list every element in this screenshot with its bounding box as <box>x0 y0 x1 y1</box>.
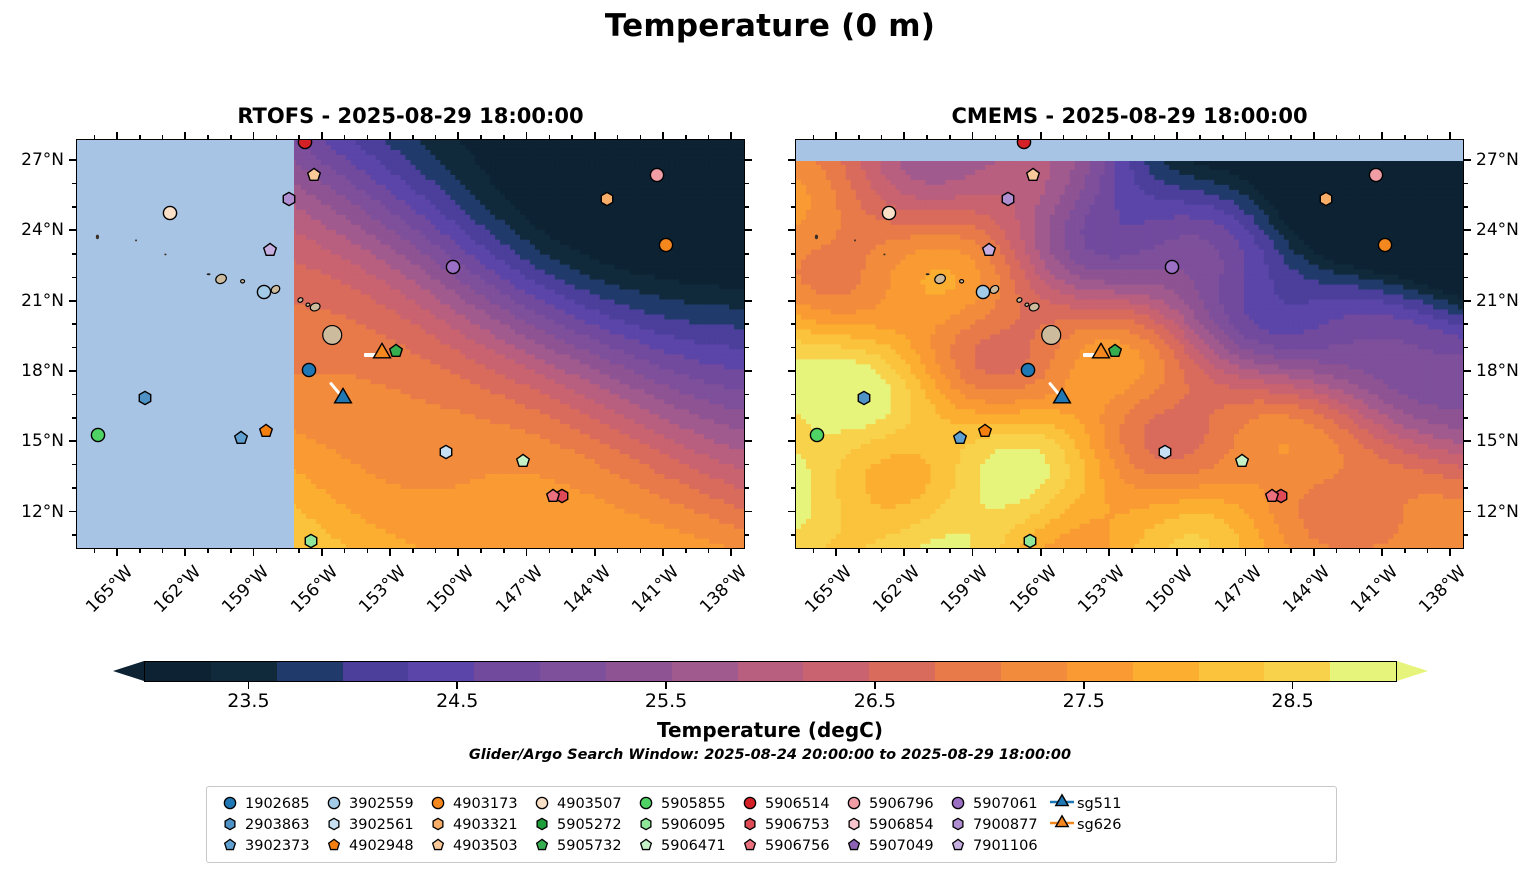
xtick-major <box>457 132 459 139</box>
map-marker-5905855[interactable] <box>809 428 824 443</box>
xtick-label: 141°W <box>618 562 683 627</box>
legend-column-4: 490350759052725905732 <box>529 793 633 856</box>
map-marker-5906095[interactable] <box>304 533 319 548</box>
legend-entry-4902948[interactable]: 4902948 <box>321 835 425 856</box>
xtick-minor <box>549 135 551 139</box>
ytick-major <box>788 511 795 513</box>
ytick-minor <box>72 206 76 208</box>
colorbar-band <box>1264 662 1330 681</box>
xtick-minor <box>412 135 414 139</box>
legend-label: 4902948 <box>347 838 425 854</box>
xtick-minor <box>1268 135 1270 139</box>
ytick-major <box>745 440 752 442</box>
xtick-major <box>253 132 255 139</box>
float-marker-icon <box>217 814 243 835</box>
ytick-label: 21°N <box>6 291 64 311</box>
legend-column-8: 590706179008777901106 <box>945 793 1049 856</box>
xtick-minor <box>1086 549 1088 553</box>
ytick-minor <box>745 417 749 419</box>
legend-entry-5906756[interactable]: 5906756 <box>737 835 841 856</box>
float-marker-icon <box>841 814 867 835</box>
legend-label: 2903863 <box>243 817 321 833</box>
legend-entry-4903503[interactable]: 4903503 <box>425 835 529 856</box>
xtick-minor <box>949 549 951 553</box>
colorbar-band <box>738 662 804 681</box>
ytick-minor <box>1464 206 1468 208</box>
ytick-minor <box>72 417 76 419</box>
map-marker-7900877[interactable] <box>1000 191 1015 206</box>
xtick-major <box>184 132 186 139</box>
map-marker-4903503[interactable] <box>1025 168 1040 183</box>
colorbar-band <box>1199 662 1265 681</box>
xtick-minor <box>298 135 300 139</box>
ytick-minor <box>72 534 76 536</box>
legend-entry-5906471[interactable]: 5906471 <box>633 835 737 856</box>
xtick-major <box>1449 132 1451 139</box>
ytick-major <box>69 370 76 372</box>
xtick-minor <box>571 135 573 139</box>
xtick-major <box>1381 132 1383 139</box>
map-marker-7901106[interactable] <box>982 243 997 258</box>
map-marker-7901106[interactable] <box>263 243 278 258</box>
xtick-minor <box>344 549 346 553</box>
float-marker-icon <box>737 814 763 835</box>
map-marker-4903507[interactable] <box>163 205 178 220</box>
legend-entry-5905855[interactable]: 5905855 <box>633 793 737 814</box>
colorbar-band <box>408 662 474 681</box>
land-overlay-rtofs <box>77 140 744 549</box>
xtick-minor <box>813 549 815 553</box>
legend-entry-5907061[interactable]: 5907061 <box>945 793 1049 814</box>
xtick-minor <box>1199 549 1201 553</box>
xtick-minor <box>1154 135 1156 139</box>
legend[interactable]: 1902685290386339023733902559390256149029… <box>206 786 1337 863</box>
legend-entry-7900877[interactable]: 7900877 <box>945 814 1049 835</box>
ytick-minor <box>791 323 795 325</box>
colorbar-band <box>869 662 935 681</box>
ytick-label: 24°N <box>6 220 64 240</box>
xtick-minor <box>367 549 369 553</box>
land-overlay-cmems <box>796 140 1463 549</box>
ytick-minor <box>791 394 795 396</box>
float-marker-icon <box>945 793 971 814</box>
xtick-minor <box>685 135 687 139</box>
colorbar-tick <box>1083 682 1085 689</box>
xtick-major <box>1040 132 1042 139</box>
map-marker-3902559[interactable] <box>975 285 990 300</box>
xtick-label: 144°W <box>550 562 615 627</box>
xtick-minor <box>276 549 278 553</box>
search-window-caption: Glider/Argo Search Window: 2025-08-24 20… <box>0 747 1540 763</box>
colorbar-band <box>145 662 211 681</box>
xtick-major <box>457 549 459 556</box>
ytick-minor <box>745 394 749 396</box>
map-marker-4903321[interactable] <box>600 191 615 206</box>
xtick-major <box>389 132 391 139</box>
ytick-major <box>1464 511 1471 513</box>
legend-entry-4903507[interactable]: 4903507 <box>529 793 633 814</box>
colorbar: 23.524.525.526.527.528.5 <box>113 661 1428 682</box>
ytick-minor <box>72 183 76 185</box>
xtick-major <box>972 132 974 139</box>
colorbar-tick-label: 24.5 <box>412 690 502 712</box>
xtick-minor <box>503 549 505 553</box>
ytick-major <box>745 370 752 372</box>
glider-marker-sg626[interactable] <box>1090 343 1111 364</box>
xtick-label: 159°W <box>928 562 993 627</box>
ytick-major <box>745 159 752 161</box>
xtick-minor <box>1404 549 1406 553</box>
xtick-label: 162°W <box>140 562 205 627</box>
xtick-minor <box>1427 135 1429 139</box>
legend-entry-5906796[interactable]: 5906796 <box>841 793 945 814</box>
xtick-major <box>321 549 323 556</box>
map-marker-5906471[interactable] <box>1235 454 1250 469</box>
xtick-minor <box>298 549 300 553</box>
xtick-minor <box>230 135 232 139</box>
colorbar-band <box>935 662 1001 681</box>
xtick-major <box>1245 132 1247 139</box>
figure-canvas: Temperature (0 m) RTOFS - 2025-08-29 18:… <box>0 0 1540 889</box>
xtick-minor <box>1086 135 1088 139</box>
xtick-minor <box>1427 549 1429 553</box>
xtick-minor <box>571 549 573 553</box>
legend-label: 5906854 <box>867 817 945 833</box>
float-marker-icon <box>217 793 243 814</box>
legend-label: 1902685 <box>243 796 321 812</box>
map-marker-3902561[interactable] <box>1157 444 1172 459</box>
xtick-label: 165°W <box>791 562 856 627</box>
float-marker-icon <box>737 793 763 814</box>
xtick-minor <box>640 135 642 139</box>
ytick-minor <box>791 534 795 536</box>
xtick-minor <box>94 135 96 139</box>
xtick-major <box>1449 549 1451 556</box>
legend-entry-3902561[interactable]: 3902561 <box>321 814 425 835</box>
map-marker-3902561[interactable] <box>438 444 453 459</box>
xtick-minor <box>1222 135 1224 139</box>
xtick-minor <box>685 549 687 553</box>
xtick-major <box>116 549 118 556</box>
colorbar-band <box>1001 662 1067 681</box>
map-marker-4903503[interactable] <box>306 168 321 183</box>
xtick-major <box>1313 549 1315 556</box>
map-marker-2903863[interactable] <box>857 390 872 405</box>
ytick-minor <box>745 534 749 536</box>
colorbar-tick <box>456 682 458 689</box>
xtick-major <box>1381 549 1383 556</box>
ytick-minor <box>791 183 795 185</box>
ytick-minor <box>1464 277 1468 279</box>
xtick-minor <box>995 135 997 139</box>
map-marker-5907061[interactable] <box>445 259 460 274</box>
legend-entry-5906514[interactable]: 5906514 <box>737 793 841 814</box>
glider-marker-sg511[interactable] <box>1052 387 1073 408</box>
legend-label: 7900877 <box>971 817 1049 833</box>
ytick-minor <box>1464 394 1468 396</box>
xtick-minor <box>926 135 928 139</box>
legend-entry-2903863[interactable]: 2903863 <box>217 814 321 835</box>
xtick-minor <box>926 549 928 553</box>
ytick-minor <box>72 487 76 489</box>
ytick-major <box>788 370 795 372</box>
legend-entry-5905732[interactable]: 5905732 <box>529 835 633 856</box>
colorbar-under-arrow <box>113 661 144 681</box>
legend-label: 3902561 <box>347 817 425 833</box>
map-marker-5906514[interactable] <box>1016 139 1031 150</box>
legend-entry-1902685[interactable]: 1902685 <box>217 793 321 814</box>
xtick-minor <box>435 135 437 139</box>
xtick-minor <box>858 549 860 553</box>
ytick-minor <box>1464 323 1468 325</box>
map-marker-3902373[interactable] <box>952 430 967 445</box>
xtick-major <box>594 132 596 139</box>
xtick-minor <box>1336 135 1338 139</box>
xtick-minor <box>549 549 551 553</box>
xtick-minor <box>412 549 414 553</box>
xtick-major <box>1108 132 1110 139</box>
float-marker-icon <box>529 793 555 814</box>
legend-entry-sg626[interactable]: sg626 <box>1049 814 1131 835</box>
xtick-label: 156°W <box>277 562 342 627</box>
legend-label: 5906756 <box>763 838 841 854</box>
xtick-minor <box>1199 135 1201 139</box>
xtick-label: 138°W <box>686 562 751 627</box>
float-marker-icon <box>321 814 347 835</box>
colorbar-tick-label: 28.5 <box>1248 690 1338 712</box>
float-marker-icon <box>529 835 555 856</box>
legend-entry-4903321[interactable]: 4903321 <box>425 814 529 835</box>
colorbar-tick-label: 26.5 <box>830 690 920 712</box>
legend-entry-4903173[interactable]: 4903173 <box>425 793 529 814</box>
ytick-minor <box>745 253 749 255</box>
map-marker-3902373[interactable] <box>233 430 248 445</box>
xtick-minor <box>881 549 883 553</box>
xtick-minor <box>367 135 369 139</box>
ytick-minor <box>1464 464 1468 466</box>
colorbar-tick-label: 25.5 <box>621 690 711 712</box>
ytick-minor <box>791 277 795 279</box>
xtick-major <box>835 549 837 556</box>
legend-label: 5905732 <box>555 838 633 854</box>
map-marker-4903173[interactable] <box>1378 238 1393 253</box>
ytick-major <box>788 300 795 302</box>
colorbar-band <box>606 662 672 681</box>
xtick-major <box>1313 132 1315 139</box>
xtick-label: 141°W <box>1337 562 1402 627</box>
float-marker-icon <box>425 835 451 856</box>
map-marker-1902685[interactable] <box>1021 362 1036 377</box>
map-marker-5906756[interactable] <box>1264 489 1279 504</box>
ytick-major <box>1464 440 1471 442</box>
map-marker-5906471[interactable] <box>516 454 531 469</box>
float-marker-icon <box>529 814 555 835</box>
float-marker-icon <box>633 814 659 835</box>
float-marker-icon <box>945 835 971 856</box>
map-marker-4902948[interactable] <box>977 423 992 438</box>
xtick-minor <box>503 135 505 139</box>
map-marker-2903863[interactable] <box>138 390 153 405</box>
map-marker-4902948[interactable] <box>258 423 273 438</box>
ytick-minor <box>745 277 749 279</box>
xtick-label: 156°W <box>996 562 1061 627</box>
xtick-label: 138°W <box>1405 562 1470 627</box>
map-panel-rtofs[interactable] <box>76 139 745 549</box>
legend-entry-5906753[interactable]: 5906753 <box>737 814 841 835</box>
xtick-minor <box>858 135 860 139</box>
float-marker-icon <box>633 835 659 856</box>
colorbar-tick <box>874 682 876 689</box>
legend-entry-3902373[interactable]: 3902373 <box>217 835 321 856</box>
xtick-minor <box>640 549 642 553</box>
ytick-minor <box>72 394 76 396</box>
ytick-minor <box>745 206 749 208</box>
float-marker-icon <box>425 814 451 835</box>
xtick-minor <box>435 549 437 553</box>
ytick-major <box>1464 370 1471 372</box>
ytick-minor <box>745 464 749 466</box>
xtick-minor <box>139 549 141 553</box>
float-marker-icon <box>425 793 451 814</box>
map-marker-5906756[interactable] <box>545 489 560 504</box>
legend-label: 3902373 <box>243 838 321 854</box>
xtick-major <box>321 132 323 139</box>
ytick-major <box>745 511 752 513</box>
float-marker-icon <box>633 793 659 814</box>
xtick-label: 153°W <box>1064 562 1129 627</box>
xtick-minor <box>162 135 164 139</box>
map-marker-5906095[interactable] <box>1023 533 1038 548</box>
ytick-label: 27°N <box>1476 150 1534 170</box>
map-marker-4903507[interactable] <box>882 205 897 220</box>
ytick-label: 21°N <box>1476 291 1534 311</box>
xtick-major <box>594 549 596 556</box>
xtick-label: 162°W <box>859 562 924 627</box>
legend-entry-5905272[interactable]: 5905272 <box>529 814 633 835</box>
xtick-major <box>526 132 528 139</box>
ytick-major <box>69 159 76 161</box>
panel-title-cmems: CMEMS - 2025-08-29 18:00:00 <box>795 104 1464 128</box>
colorbar-tick-label: 27.5 <box>1039 690 1129 712</box>
xtick-label: 147°W <box>1201 562 1266 627</box>
xtick-minor <box>617 549 619 553</box>
map-marker-5906796[interactable] <box>1369 168 1384 183</box>
xtick-major <box>662 132 664 139</box>
map-marker-5906796[interactable] <box>650 168 665 183</box>
legend-column-1: 190268529038633902373 <box>217 793 321 856</box>
legend-entry-3902559[interactable]: 3902559 <box>321 793 425 814</box>
xtick-minor <box>617 135 619 139</box>
ytick-label: 15°N <box>1476 431 1534 451</box>
colorbar-tick-label: 23.5 <box>203 690 293 712</box>
legend-label: sg511 <box>1075 796 1131 812</box>
ytick-major <box>745 300 752 302</box>
xtick-major <box>835 132 837 139</box>
xtick-minor <box>1063 135 1065 139</box>
xtick-minor <box>207 549 209 553</box>
xtick-major <box>1176 132 1178 139</box>
xtick-major <box>972 549 974 556</box>
xtick-major <box>184 549 186 556</box>
ytick-major <box>69 300 76 302</box>
legend-column-2: 390255939025614902948 <box>321 793 425 856</box>
map-panel-cmems[interactable] <box>795 139 1464 549</box>
ytick-minor <box>745 487 749 489</box>
xtick-minor <box>949 135 951 139</box>
map-marker-5907061[interactable] <box>1164 259 1179 274</box>
ytick-label: 12°N <box>1476 502 1534 522</box>
legend-label: sg626 <box>1075 817 1131 833</box>
map-marker-4903173[interactable] <box>659 238 674 253</box>
glider-marker-sg511[interactable] <box>333 387 354 408</box>
ytick-minor <box>1464 347 1468 349</box>
colorbar-tick <box>665 682 667 689</box>
ytick-minor <box>72 277 76 279</box>
map-marker-3902559[interactable] <box>256 285 271 300</box>
xtick-label: 159°W <box>209 562 274 627</box>
float-marker-icon <box>841 793 867 814</box>
xtick-minor <box>1336 549 1338 553</box>
legend-label: 4903321 <box>451 817 529 833</box>
ytick-label: 27°N <box>6 150 64 170</box>
colorbar-band <box>343 662 409 681</box>
float-marker-icon <box>841 835 867 856</box>
ytick-minor <box>1464 253 1468 255</box>
map-marker-5906514[interactable] <box>297 139 312 150</box>
xtick-label: 165°W <box>72 562 137 627</box>
legend-entry-5906854[interactable]: 5906854 <box>841 814 945 835</box>
xtick-major <box>116 132 118 139</box>
legend-label: 4903507 <box>555 796 633 812</box>
xtick-minor <box>1359 135 1361 139</box>
legend-label: 5907061 <box>971 796 1049 812</box>
colorbar-tick <box>1292 682 1294 689</box>
xtick-minor <box>1268 549 1270 553</box>
map-marker-1902685[interactable] <box>302 362 317 377</box>
ytick-major <box>69 511 76 513</box>
legend-entry-sg511[interactable]: sg511 <box>1049 793 1131 814</box>
map-marker-7900877[interactable] <box>281 191 296 206</box>
glider-marker-sg626[interactable] <box>371 343 392 364</box>
float-marker-icon <box>321 793 347 814</box>
ytick-minor <box>791 417 795 419</box>
legend-column-6: 590651459067535906756 <box>737 793 841 856</box>
ytick-minor <box>791 253 795 255</box>
colorbar-band <box>1067 662 1133 681</box>
xtick-minor <box>813 135 815 139</box>
xtick-minor <box>1131 135 1133 139</box>
ytick-major <box>788 440 795 442</box>
colorbar-over-arrow <box>1397 661 1428 681</box>
xtick-major <box>903 549 905 556</box>
ytick-label: 12°N <box>6 502 64 522</box>
colorbar-band <box>540 662 606 681</box>
xtick-major <box>1245 549 1247 556</box>
map-marker-5905855[interactable] <box>90 428 105 443</box>
legend-entry-7901106[interactable]: 7901106 <box>945 835 1049 856</box>
map-marker-4903321[interactable] <box>1319 191 1334 206</box>
float-marker-icon <box>321 835 347 856</box>
xtick-major <box>526 549 528 556</box>
ytick-label: 24°N <box>1476 220 1534 240</box>
ytick-minor <box>1464 487 1468 489</box>
xtick-minor <box>1131 549 1133 553</box>
legend-entry-5906095[interactable]: 5906095 <box>633 814 737 835</box>
ytick-major <box>745 229 752 231</box>
ytick-label: 15°N <box>6 431 64 451</box>
legend-label: 3902559 <box>347 796 425 812</box>
legend-entry-5907049[interactable]: 5907049 <box>841 835 945 856</box>
